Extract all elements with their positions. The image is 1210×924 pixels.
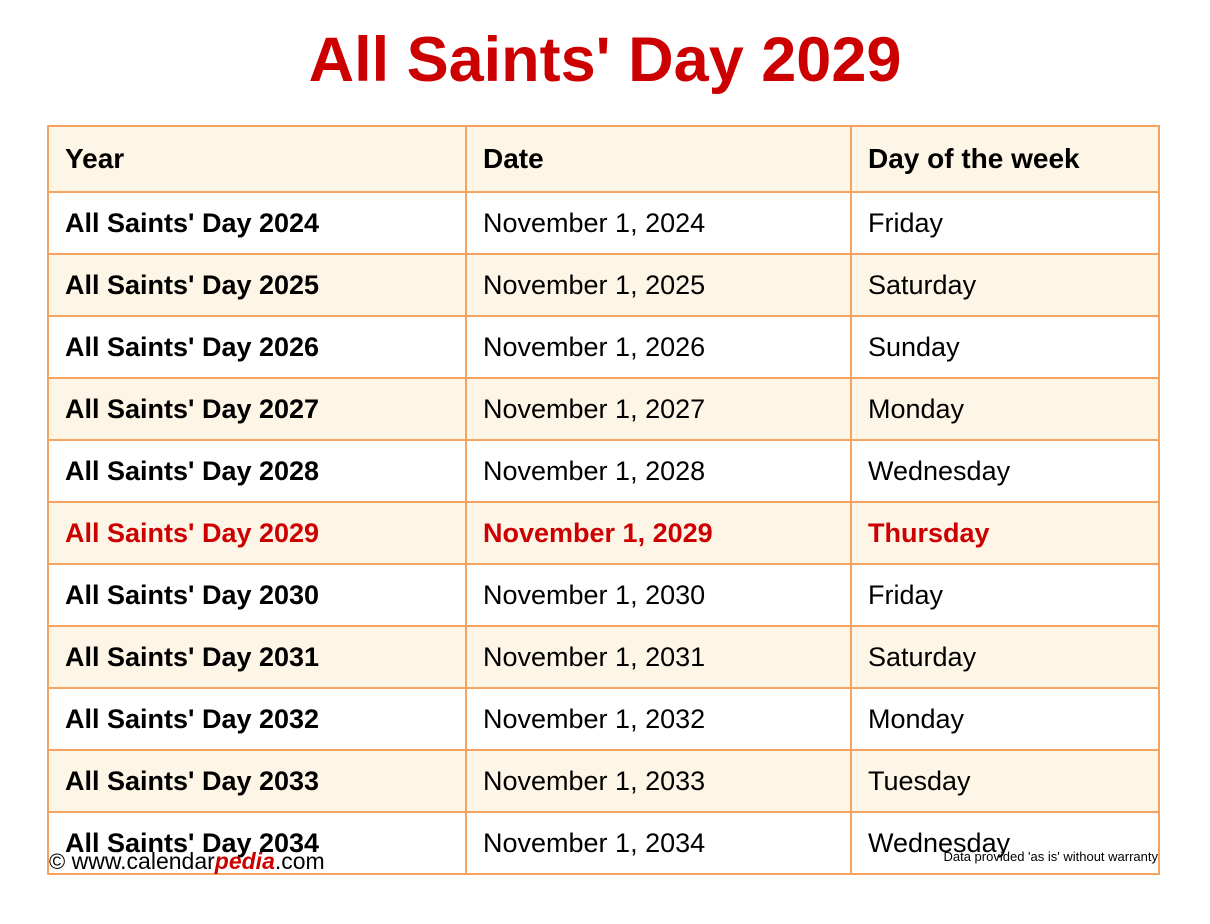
cell-day-of-week: Thursday bbox=[851, 502, 1159, 564]
cell-day-of-week: Sunday bbox=[851, 316, 1159, 378]
cell-date: November 1, 2029 bbox=[466, 502, 851, 564]
cell-year: All Saints' Day 2025 bbox=[48, 254, 466, 316]
cell-year: All Saints' Day 2033 bbox=[48, 750, 466, 812]
table-row: All Saints' Day 2028November 1, 2028Wedn… bbox=[48, 440, 1159, 502]
holiday-table-container: Year Date Day of the week All Saints' Da… bbox=[47, 125, 1158, 875]
table-row: All Saints' Day 2026November 1, 2026Sund… bbox=[48, 316, 1159, 378]
table-row: All Saints' Day 2027November 1, 2027Mond… bbox=[48, 378, 1159, 440]
cell-year: All Saints' Day 2026 bbox=[48, 316, 466, 378]
cell-date: November 1, 2032 bbox=[466, 688, 851, 750]
holiday-table: Year Date Day of the week All Saints' Da… bbox=[47, 125, 1160, 875]
table-row: All Saints' Day 2033November 1, 2033Tues… bbox=[48, 750, 1159, 812]
cell-date: November 1, 2024 bbox=[466, 192, 851, 254]
table-header-row: Year Date Day of the week bbox=[48, 126, 1159, 192]
cell-day-of-week: Friday bbox=[851, 564, 1159, 626]
cell-year: All Saints' Day 2031 bbox=[48, 626, 466, 688]
cell-date: November 1, 2030 bbox=[466, 564, 851, 626]
column-header-date: Date bbox=[466, 126, 851, 192]
table-body: All Saints' Day 2024November 1, 2024Frid… bbox=[48, 192, 1159, 874]
cell-day-of-week: Wednesday bbox=[851, 440, 1159, 502]
cell-year: All Saints' Day 2024 bbox=[48, 192, 466, 254]
cell-year: All Saints' Day 2029 bbox=[48, 502, 466, 564]
cell-date: November 1, 2026 bbox=[466, 316, 851, 378]
site-url-suffix: .com bbox=[275, 848, 325, 874]
cell-day-of-week: Friday bbox=[851, 192, 1159, 254]
column-header-year: Year bbox=[48, 126, 466, 192]
site-credit: © www.calendarpedia.com bbox=[49, 848, 325, 875]
disclaimer-text: Data provided 'as is' without warranty bbox=[943, 849, 1158, 864]
column-header-day-of-week: Day of the week bbox=[851, 126, 1159, 192]
calendarpedia-page: All Saints' Day 2029 Year Date Day of th… bbox=[0, 0, 1210, 924]
cell-date: November 1, 2028 bbox=[466, 440, 851, 502]
cell-date: November 1, 2025 bbox=[466, 254, 851, 316]
page-title: All Saints' Day 2029 bbox=[0, 27, 1210, 93]
cell-year: All Saints' Day 2028 bbox=[48, 440, 466, 502]
site-url-brand: pedia bbox=[215, 848, 275, 874]
table-row: All Saints' Day 2025November 1, 2025Satu… bbox=[48, 254, 1159, 316]
table-row: All Saints' Day 2031November 1, 2031Satu… bbox=[48, 626, 1159, 688]
cell-year: All Saints' Day 2032 bbox=[48, 688, 466, 750]
cell-date: November 1, 2027 bbox=[466, 378, 851, 440]
table-row: All Saints' Day 2032November 1, 2032Mond… bbox=[48, 688, 1159, 750]
table-row-highlighted: All Saints' Day 2029November 1, 2029Thur… bbox=[48, 502, 1159, 564]
cell-day-of-week: Monday bbox=[851, 378, 1159, 440]
cell-day-of-week: Monday bbox=[851, 688, 1159, 750]
cell-year: All Saints' Day 2027 bbox=[48, 378, 466, 440]
cell-date: November 1, 2031 bbox=[466, 626, 851, 688]
table-row: All Saints' Day 2030November 1, 2030Frid… bbox=[48, 564, 1159, 626]
cell-day-of-week: Tuesday bbox=[851, 750, 1159, 812]
cell-date: November 1, 2033 bbox=[466, 750, 851, 812]
table-header: Year Date Day of the week bbox=[48, 126, 1159, 192]
cell-year: All Saints' Day 2030 bbox=[48, 564, 466, 626]
cell-day-of-week: Saturday bbox=[851, 254, 1159, 316]
table-row: All Saints' Day 2024November 1, 2024Frid… bbox=[48, 192, 1159, 254]
site-url-prefix: www.calendar bbox=[65, 848, 215, 874]
cell-day-of-week: Saturday bbox=[851, 626, 1159, 688]
page-footer: © www.calendarpedia.com Data provided 'a… bbox=[47, 848, 1158, 884]
copyright-icon: © bbox=[49, 849, 65, 874]
